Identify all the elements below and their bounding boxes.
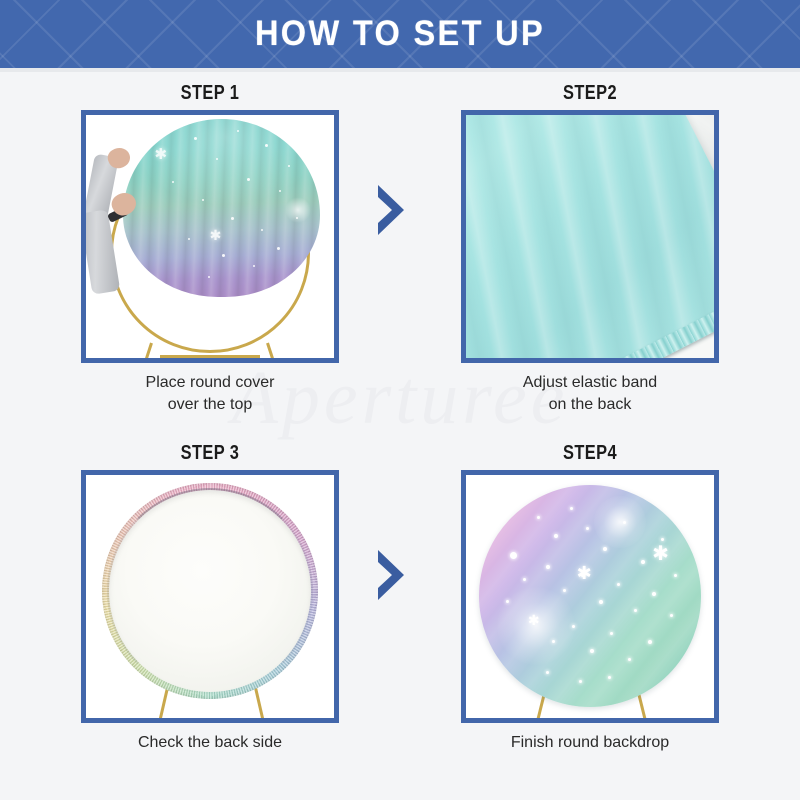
- step-4-caption: Finish round backdrop: [420, 732, 760, 754]
- step-1-heading: STEP 1: [71, 82, 350, 110]
- fabric-glow-spot: [285, 197, 311, 223]
- star-dot: [194, 137, 197, 140]
- step-2-caption: Adjust elastic band on the back: [420, 372, 760, 416]
- step-3-caption-line-1: Check the back side: [40, 732, 380, 754]
- scene-finished-backdrop: ✱ ✱ ✱: [466, 475, 714, 718]
- star-icon: [610, 632, 613, 635]
- star-dot: [202, 199, 204, 201]
- star-dot: [265, 144, 268, 147]
- step-card-4: STEP4: [420, 442, 760, 754]
- stand-leg-left: [158, 685, 170, 723]
- star-icon: [537, 516, 540, 519]
- sparkle-icon: ✱: [652, 543, 669, 563]
- sparkle-icon: ✱: [528, 614, 540, 628]
- step-3-heading: STEP 3: [71, 442, 350, 470]
- step-1-caption-line-2: over the top: [40, 394, 380, 416]
- star-dot: [253, 265, 255, 267]
- step-4-caption-line-1: Finish round backdrop: [420, 732, 760, 754]
- step-3-image-frame: [81, 470, 339, 723]
- cover-back-rim-shadow: [107, 488, 313, 694]
- header-banner: HOW TO SET UP: [0, 0, 800, 68]
- arrow-step1-to-step2: [374, 183, 408, 237]
- star-dot: [222, 254, 225, 257]
- step-4-image-frame: ✱ ✱ ✱: [461, 470, 719, 723]
- step-card-3: STEP 3 Check the back side: [40, 442, 380, 754]
- star-icon: [670, 614, 673, 617]
- arch-leg-left: [139, 343, 153, 363]
- scene-check-back-side: [86, 475, 334, 718]
- star-icon: [510, 552, 517, 559]
- step-3-caption: Check the back side: [40, 732, 380, 754]
- scene-elastic-band-closeup: [466, 115, 714, 358]
- sparkle-icon: ✱: [155, 147, 168, 162]
- star-icon: [623, 521, 626, 524]
- sparkle-icon: ✱: [577, 565, 592, 583]
- header-underline-divider: [0, 68, 800, 72]
- chevron-right-icon: [374, 183, 408, 237]
- sparkle-icon: ✱: [210, 229, 222, 243]
- star-dot: [279, 190, 281, 192]
- step-1-caption: Place round cover over the top: [40, 372, 380, 416]
- cyan-cover-fabric: [466, 115, 714, 358]
- star-icon: [546, 565, 550, 569]
- star-icon: [586, 527, 589, 530]
- finished-backdrop-disc: ✱ ✱ ✱: [479, 485, 701, 707]
- step-2-caption-line-2: on the back: [420, 394, 760, 416]
- stand-leg-right: [254, 685, 266, 723]
- chevron-right-icon: [374, 548, 408, 602]
- star-dot: [247, 178, 250, 181]
- step-4-heading: STEP4: [451, 442, 730, 470]
- step-2-caption-line-1: Adjust elastic band: [420, 372, 760, 394]
- step-1-caption-line-1: Place round cover: [40, 372, 380, 394]
- arrow-step3-to-step4: [374, 548, 408, 602]
- step-card-2: STEP2 Adjust elastic band on the back: [420, 82, 760, 416]
- arch-leg-right: [266, 343, 280, 363]
- cover-back-disc: [102, 483, 318, 699]
- step-2-heading: STEP2: [451, 82, 730, 110]
- star-icon: [652, 592, 656, 596]
- star-dot: [277, 247, 280, 250]
- arch-foot-bar: [160, 355, 260, 358]
- page-title: HOW TO SET UP: [28, 0, 772, 68]
- cyan-fabric-sheen: [466, 115, 714, 358]
- scene-place-cover-over-arch: ✱ ✱: [86, 115, 334, 358]
- star-icon: [628, 658, 631, 661]
- step-1-image-frame: ✱ ✱: [81, 110, 339, 363]
- star-dot: [208, 276, 210, 278]
- step-2-image-frame: [461, 110, 719, 363]
- star-icon: [617, 583, 620, 586]
- star-dot: [216, 158, 218, 160]
- step-card-1: STEP 1: [40, 82, 380, 416]
- star-icon: [608, 676, 611, 679]
- gradient-cover-fabric: ✱ ✱: [123, 119, 320, 297]
